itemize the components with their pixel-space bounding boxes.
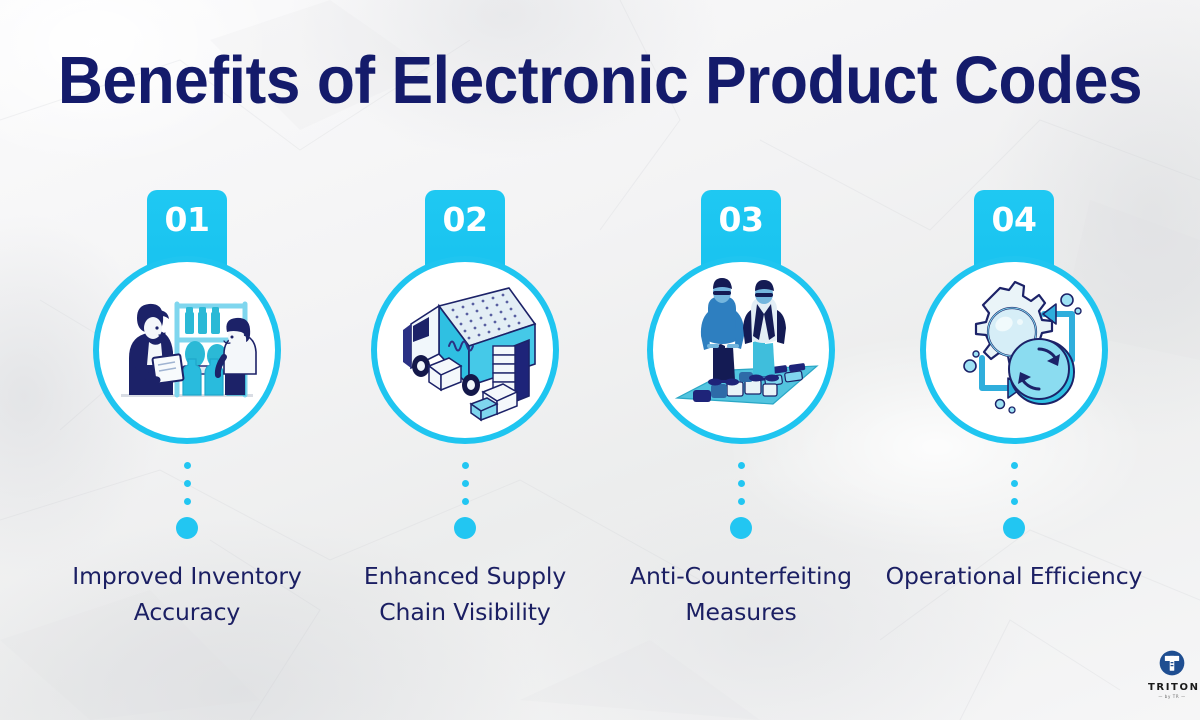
triton-tagline: — by TR — xyxy=(1148,695,1196,699)
triton-logo[interactable]: TRITON — by TR — xyxy=(1148,650,1196,702)
illustration-circle-1 xyxy=(93,256,281,444)
benefit-caption-2: Enhanced Supply Chain Visibility xyxy=(327,558,603,630)
benefit-card-3[interactable]: 03 xyxy=(603,190,879,640)
connector-dots-1 xyxy=(176,462,198,539)
connector-end-dot xyxy=(730,517,752,539)
connector-dot xyxy=(184,498,191,505)
triton-wordmark: TRITON xyxy=(1148,683,1196,693)
delivery-truck-boxes-icon xyxy=(377,262,553,438)
connector-dot xyxy=(462,498,469,505)
connector-end-dot xyxy=(454,517,476,539)
connector-dot xyxy=(184,462,191,469)
connector-dots-2 xyxy=(454,462,476,539)
connector-dot xyxy=(1011,480,1018,487)
connector-dot xyxy=(738,498,745,505)
connector-dot xyxy=(738,462,745,469)
connector-dot xyxy=(738,480,745,487)
benefit-card-1[interactable]: 01 xyxy=(49,190,325,640)
street-vendor-goods-icon xyxy=(653,262,829,438)
gear-refresh-process-icon xyxy=(926,262,1102,438)
benefit-caption-1: Improved Inventory Accuracy xyxy=(49,558,325,630)
connector-end-dot xyxy=(176,517,198,539)
benefit-card-2[interactable]: 02 xyxy=(327,190,603,640)
connector-dot xyxy=(184,480,191,487)
triton-t-circle-icon xyxy=(1159,650,1185,676)
benefit-card-4[interactable]: 04 xyxy=(876,190,1152,640)
connector-end-dot xyxy=(1003,517,1025,539)
connector-dot xyxy=(1011,498,1018,505)
benefits-columns: 01 xyxy=(0,0,1200,720)
benefit-caption-3: Anti-Counterfeiting Measures xyxy=(603,558,879,630)
illustration-circle-4 xyxy=(920,256,1108,444)
connector-dots-3 xyxy=(730,462,752,539)
illustration-circle-2 xyxy=(371,256,559,444)
connector-dot xyxy=(462,462,469,469)
connector-dots-4 xyxy=(1003,462,1025,539)
illustration-circle-3 xyxy=(647,256,835,444)
connector-dot xyxy=(462,480,469,487)
benefit-caption-4: Operational Efficiency xyxy=(876,558,1152,594)
connector-dot xyxy=(1011,462,1018,469)
inventory-shelf-people-icon xyxy=(99,262,275,438)
